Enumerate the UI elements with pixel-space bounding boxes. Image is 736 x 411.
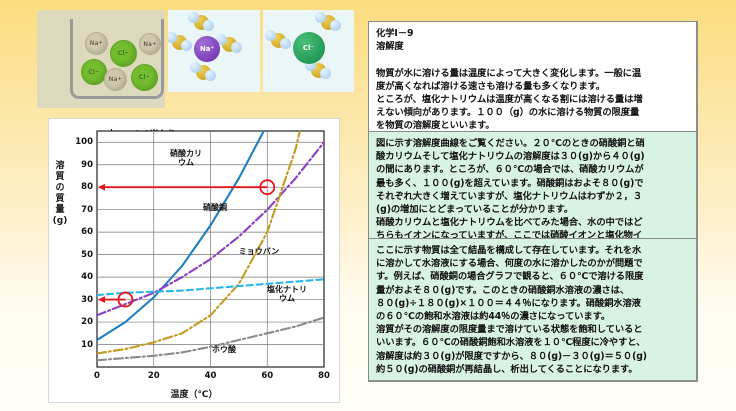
- panel-line: (g)の増加にとどまっていることが分かります。: [376, 203, 690, 216]
- panel-line: 溶解度: [376, 40, 690, 53]
- series-label-potassium-nitrate: 硝酸カリウム: [167, 149, 205, 167]
- series-label-alum: ミョウバン: [235, 247, 283, 256]
- panel-line: 図に示す溶解度曲線をご覧ください。２０℃のときの硝酸銅と硝: [376, 137, 690, 150]
- hydrated-sodium-ion-panel: Na⁺: [168, 10, 260, 92]
- beaker-glass: Na+Cl−Na+Cl−Na+Cl−: [70, 19, 164, 99]
- chloride-ion: Cl−: [81, 59, 107, 85]
- hydration-illustrations: Na⁺ Cl⁻: [168, 10, 354, 92]
- panel-line: いいます。６０℃の硝酸銅飽和水溶液を１０℃程度に冷やすと、: [376, 336, 690, 349]
- y-axis-tick: 50: [73, 250, 93, 260]
- y-axis-tick: 40: [73, 272, 93, 282]
- slide-canvas: Na+Cl−Na+Cl−Na+Cl− Na⁺ Cl⁻ 溶質の質量(g) 水100…: [0, 0, 736, 411]
- y-axis-tick: 70: [73, 205, 93, 215]
- panel-definition: 化学Ⅰ－9溶解度 物質が水に溶ける量は温度によって大きく変化します。一般に温度が…: [368, 21, 698, 139]
- y-axis-tick: 100: [73, 137, 93, 147]
- x-axis-tick: 80: [315, 371, 333, 381]
- panel-line: の間にあります。ところが、６０℃の場合では、硝酸カリウムが: [376, 163, 690, 176]
- panel-line: 度が高くなれば溶ける速さも溶ける量も多くなります。: [376, 80, 690, 93]
- y-axis-tick: 10: [73, 340, 93, 350]
- y-axis-tick: 30: [73, 295, 93, 305]
- panel-line: 溶解度は約３０(g)が限度ですから、８０(g)－３０(g)＝５０(g): [376, 350, 690, 363]
- panel-line: に溶かして水溶液にする場合、何度の水に溶かしたのかが問題で: [376, 257, 690, 270]
- panel-line: [376, 53, 690, 66]
- chloride-ion: Cl−: [110, 40, 137, 67]
- panel-line: す。例えば、硝酸銅の場合グラフで観ると、６０℃で溶ける限度: [376, 270, 690, 283]
- panel-line: ここに示す物質は全て結晶を構成して存在しています。それを水: [376, 244, 690, 257]
- solubility-curve-chart: 溶質の質量(g) 水100(g)当たり 溶解度曲線 温度（℃） 10203040…: [48, 118, 340, 403]
- sodium-ion: Na+: [139, 33, 161, 55]
- series-label-copper-sulfate: 硝酸銅: [199, 203, 231, 212]
- panel-line: 最も多く、１００(g)を超えています。硝酸銅はおよそ８０(g)で: [376, 177, 690, 190]
- panel-line: 約５０(g)の硝酸銅が再結晶し、析出してくることになります。: [376, 363, 690, 376]
- panel-line: 量がおよそ８０(g)です。このときの硝酸銅水溶液の濃さは、: [376, 284, 690, 297]
- panel-line: 溶質がその溶解度の限度量まで溶けている状態を飽和していると: [376, 323, 690, 336]
- x-axis-tick: 60: [258, 371, 276, 381]
- panel-line: ８０(g)÷１８０(g)×１００＝４４％になります。硝酸銅水溶液: [376, 297, 690, 310]
- chloride-ion: Cl−: [131, 64, 158, 91]
- panel-line: 硝酸カリウムと塩化ナトリウムを比べてみた場合、水の中ではど: [376, 216, 690, 229]
- x-axis-tick: 0: [88, 371, 106, 381]
- x-axis-tick: 40: [202, 371, 220, 381]
- panel-line: それぞれ大きく増えていますが、塩化ナトリウムはわずか２，３: [376, 190, 690, 203]
- panel-saturation: ここに示す物質は全て結晶を構成して存在しています。それを水に溶かして水溶液にする…: [368, 238, 698, 382]
- series-label-sodium-chloride: 塩化ナトリウム: [265, 285, 309, 303]
- y-axis-tick: 20: [73, 317, 93, 327]
- series-label-boric-acid: ホウ酸: [207, 345, 241, 354]
- hydrated-chloride-ion-panel: Cl⁻: [263, 10, 355, 92]
- chloride-ion-core: Cl⁻: [293, 32, 325, 64]
- y-axis-tick: 90: [73, 160, 93, 170]
- sodium-ion: Na+: [104, 68, 127, 91]
- panel-line: ところが、塩化ナトリウムは温度が高くなる割には溶ける量は増: [376, 93, 690, 106]
- panel-line: 物質が水に溶ける量は温度によって大きく変化します。一般に温: [376, 67, 690, 80]
- x-axis-tick: 20: [145, 371, 163, 381]
- panel-line: えない傾向があります。１００（g）の水に溶ける物質の限度量: [376, 106, 690, 119]
- beaker-illustration: Na+Cl−Na+Cl−Na+Cl−: [37, 10, 165, 108]
- y-axis-tick: 60: [73, 227, 93, 237]
- sodium-ion-core: Na⁺: [194, 36, 220, 62]
- y-axis-tick: 80: [73, 182, 93, 192]
- sodium-ion: Na+: [85, 32, 108, 55]
- panel-line: の６０℃の飽和水溶液は約44％の濃さになっています。: [376, 310, 690, 323]
- panel-line: 酸カリウムそして塩化ナトリウムの溶解度は３０(g)から４０(g): [376, 150, 690, 163]
- panel-line: 化学Ⅰ－9: [376, 27, 690, 40]
